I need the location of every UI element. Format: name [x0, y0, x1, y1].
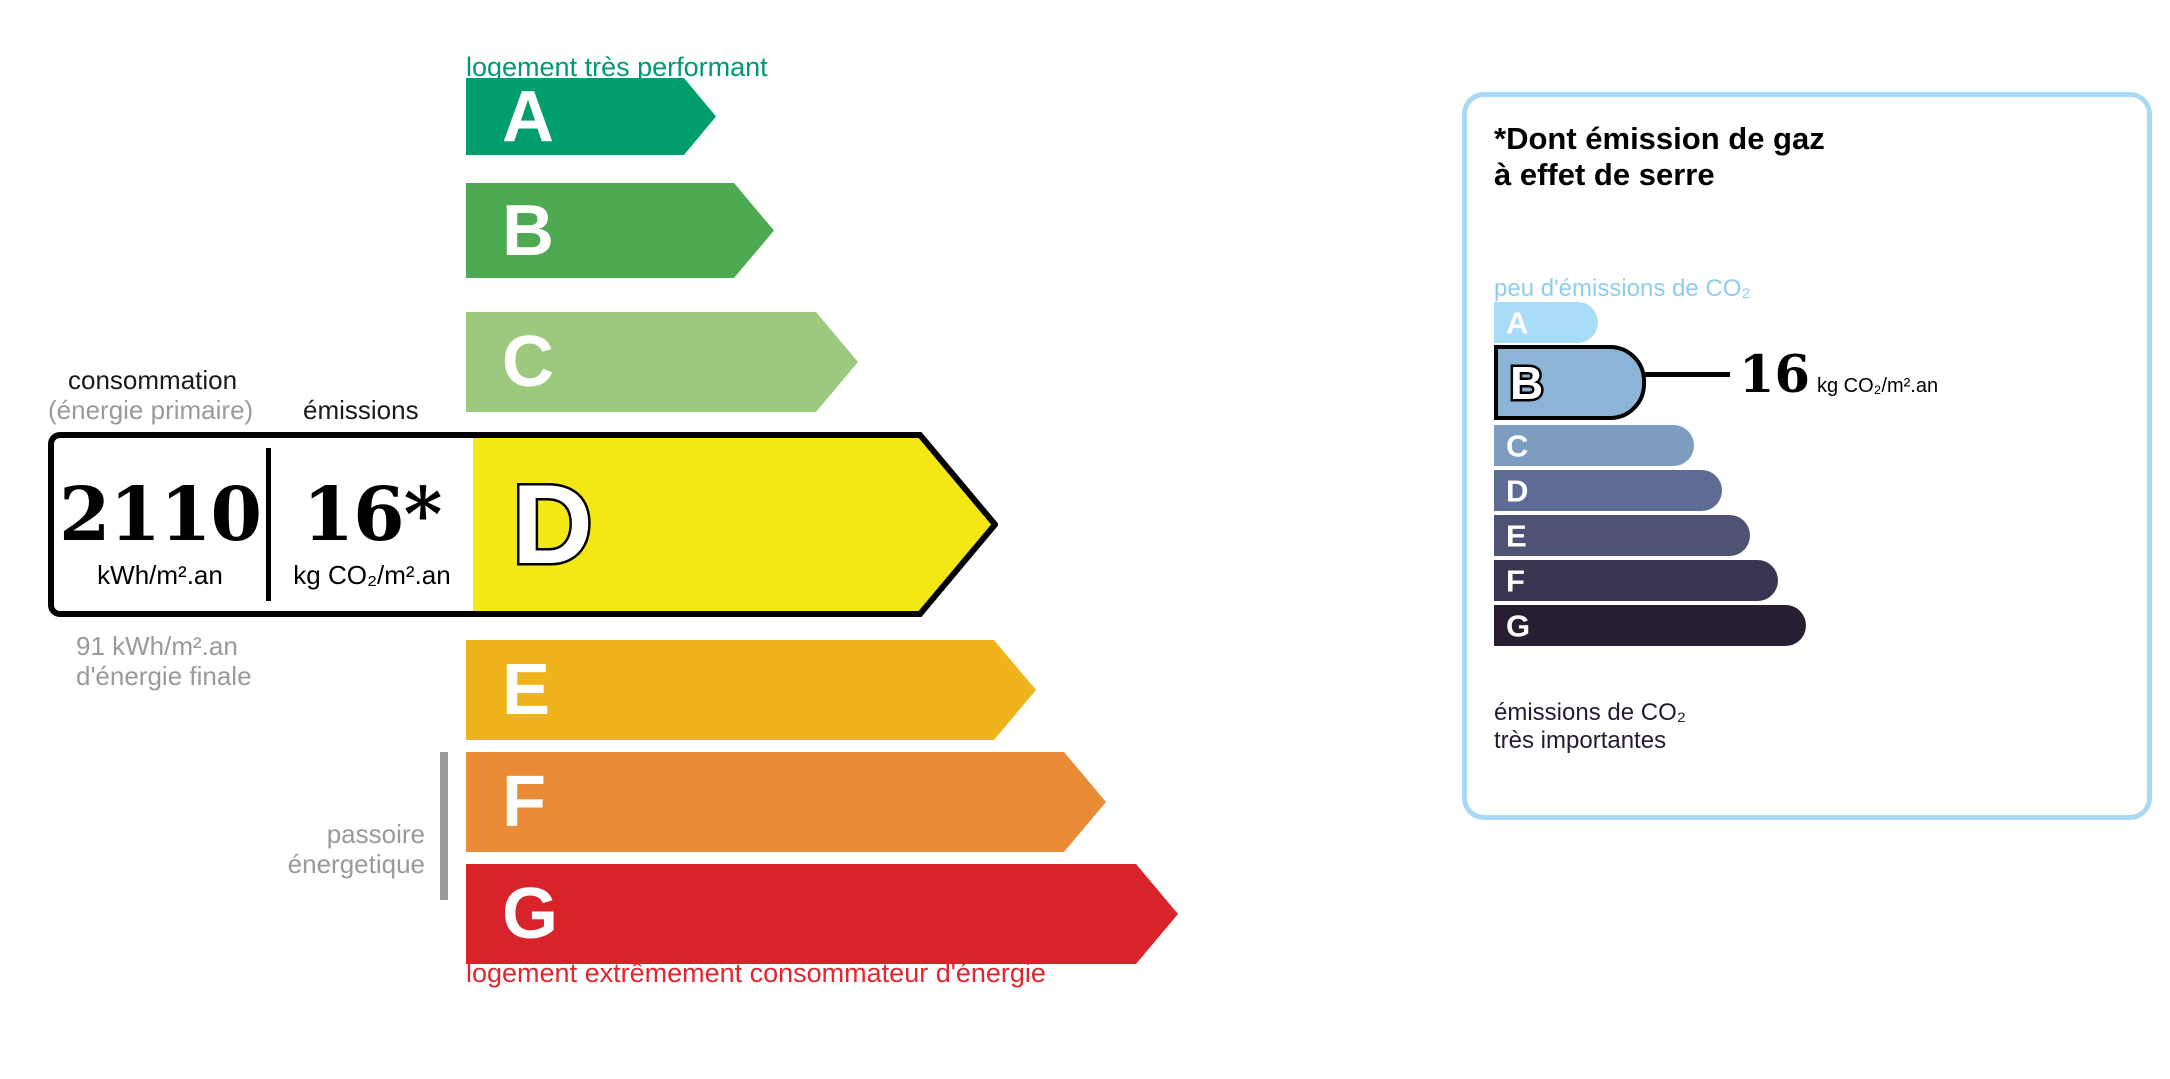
co2-emissions-panel: *Dont émission de gaz à effet de serre p…: [1462, 92, 2152, 820]
co2-panel-title: *Dont émission de gaz à effet de serre: [1494, 121, 1825, 193]
co2-class-row-d: D: [1494, 470, 1722, 511]
co2-value-unit: kg CO₂/m².an: [1817, 375, 1938, 397]
co2-class-row-a: A: [1494, 302, 1598, 343]
energy-class-letter-b: B: [502, 195, 554, 267]
label-emissions: émissions: [303, 395, 419, 426]
co2-class-letter-d: D: [1506, 475, 1528, 506]
energy-class-letter-e: E: [502, 654, 550, 726]
co2-class-letter-b: B: [1510, 360, 1543, 406]
energy-bar-shape-f: [466, 752, 1106, 852]
energy-bar-shape-g: [466, 864, 1178, 964]
co2-class-letter-a: A: [1506, 307, 1528, 338]
co2-bar-shape-f: [1494, 560, 1778, 601]
label-consommation: consommation: [68, 365, 237, 396]
co2-class-row-c: C: [1494, 425, 1694, 466]
energy-class-letter-a: A: [502, 81, 554, 153]
co2-title-line2: à effet de serre: [1494, 157, 1825, 193]
energy-bottom-caption: logement extrêmement consommateur d'éner…: [466, 958, 1046, 989]
consumption-unit: kWh/m².an: [54, 560, 266, 591]
passoire-line2: énergetique: [250, 850, 425, 880]
co2-class-letter-f: F: [1506, 565, 1525, 596]
co2-class-letter-e: E: [1506, 520, 1527, 551]
co2-class-row-e: E: [1494, 515, 1750, 556]
co2-bottom-line2: très importantes: [1494, 727, 1686, 755]
energy-performance-scale: logement très performant ABCDEFG logemen…: [0, 0, 1400, 1079]
co2-value-readout: 16kg CO₂/m².an: [1739, 345, 1938, 405]
energy-class-letter-c: C: [502, 326, 554, 398]
energy-class-row-c: C: [466, 312, 858, 412]
emission-value-cell: 16* kg CO₂/m².an: [276, 478, 468, 591]
co2-connector-line: [1643, 372, 1730, 377]
co2-bottom-caption: émissions de CO₂ très importantes: [1494, 699, 1686, 755]
final-energy-line2: d'énergie finale: [76, 662, 252, 692]
co2-class-letter-c: C: [1506, 430, 1528, 461]
energy-class-letter-f: F: [502, 766, 546, 838]
co2-bar-shape-g: [1494, 605, 1806, 646]
consumption-number: 2110: [54, 478, 266, 552]
co2-bar-shape-e: [1494, 515, 1750, 556]
co2-value-number: 16: [1739, 345, 1810, 405]
energy-class-row-a: A: [466, 78, 716, 155]
label-final-energy: 91 kWh/m².an d'énergie finale: [76, 632, 252, 691]
co2-class-row-f: F: [1494, 560, 1778, 601]
label-energie-primaire: (énergie primaire): [48, 395, 253, 426]
co2-bottom-line1: émissions de CO₂: [1494, 699, 1686, 727]
label-passoire-energetique: passoire énergetique: [250, 820, 425, 879]
co2-title-line1: *Dont émission de gaz: [1494, 121, 1825, 157]
co2-class-row-g: G: [1494, 605, 1806, 646]
consumption-value-cell: 2110 kWh/m².an: [54, 478, 266, 591]
energy-bar-shape-e: [466, 640, 1036, 740]
emission-unit: kg CO₂/m².an: [276, 560, 468, 591]
energy-class-row-d: D: [466, 432, 998, 617]
dpe-energy-label: logement très performant ABCDEFG logemen…: [0, 0, 2170, 1079]
energy-class-letter-d: D: [512, 469, 593, 581]
passoire-indicator-bar: [440, 752, 448, 900]
energy-class-row-b: B: [466, 183, 774, 278]
energy-class-row-e: E: [466, 640, 1036, 740]
energy-class-letter-g: G: [502, 878, 558, 950]
co2-class-letter-g: G: [1506, 610, 1530, 641]
co2-top-caption: peu d'émissions de CO₂: [1494, 275, 1751, 303]
passoire-line1: passoire: [250, 820, 425, 850]
co2-class-row-b: B: [1494, 345, 1646, 420]
energy-class-row-f: F: [466, 752, 1106, 852]
energy-class-row-g: G: [466, 864, 1178, 964]
emission-number: 16*: [276, 478, 468, 552]
value-box-divider: [266, 448, 271, 601]
final-energy-line1: 91 kWh/m².an: [76, 632, 252, 662]
